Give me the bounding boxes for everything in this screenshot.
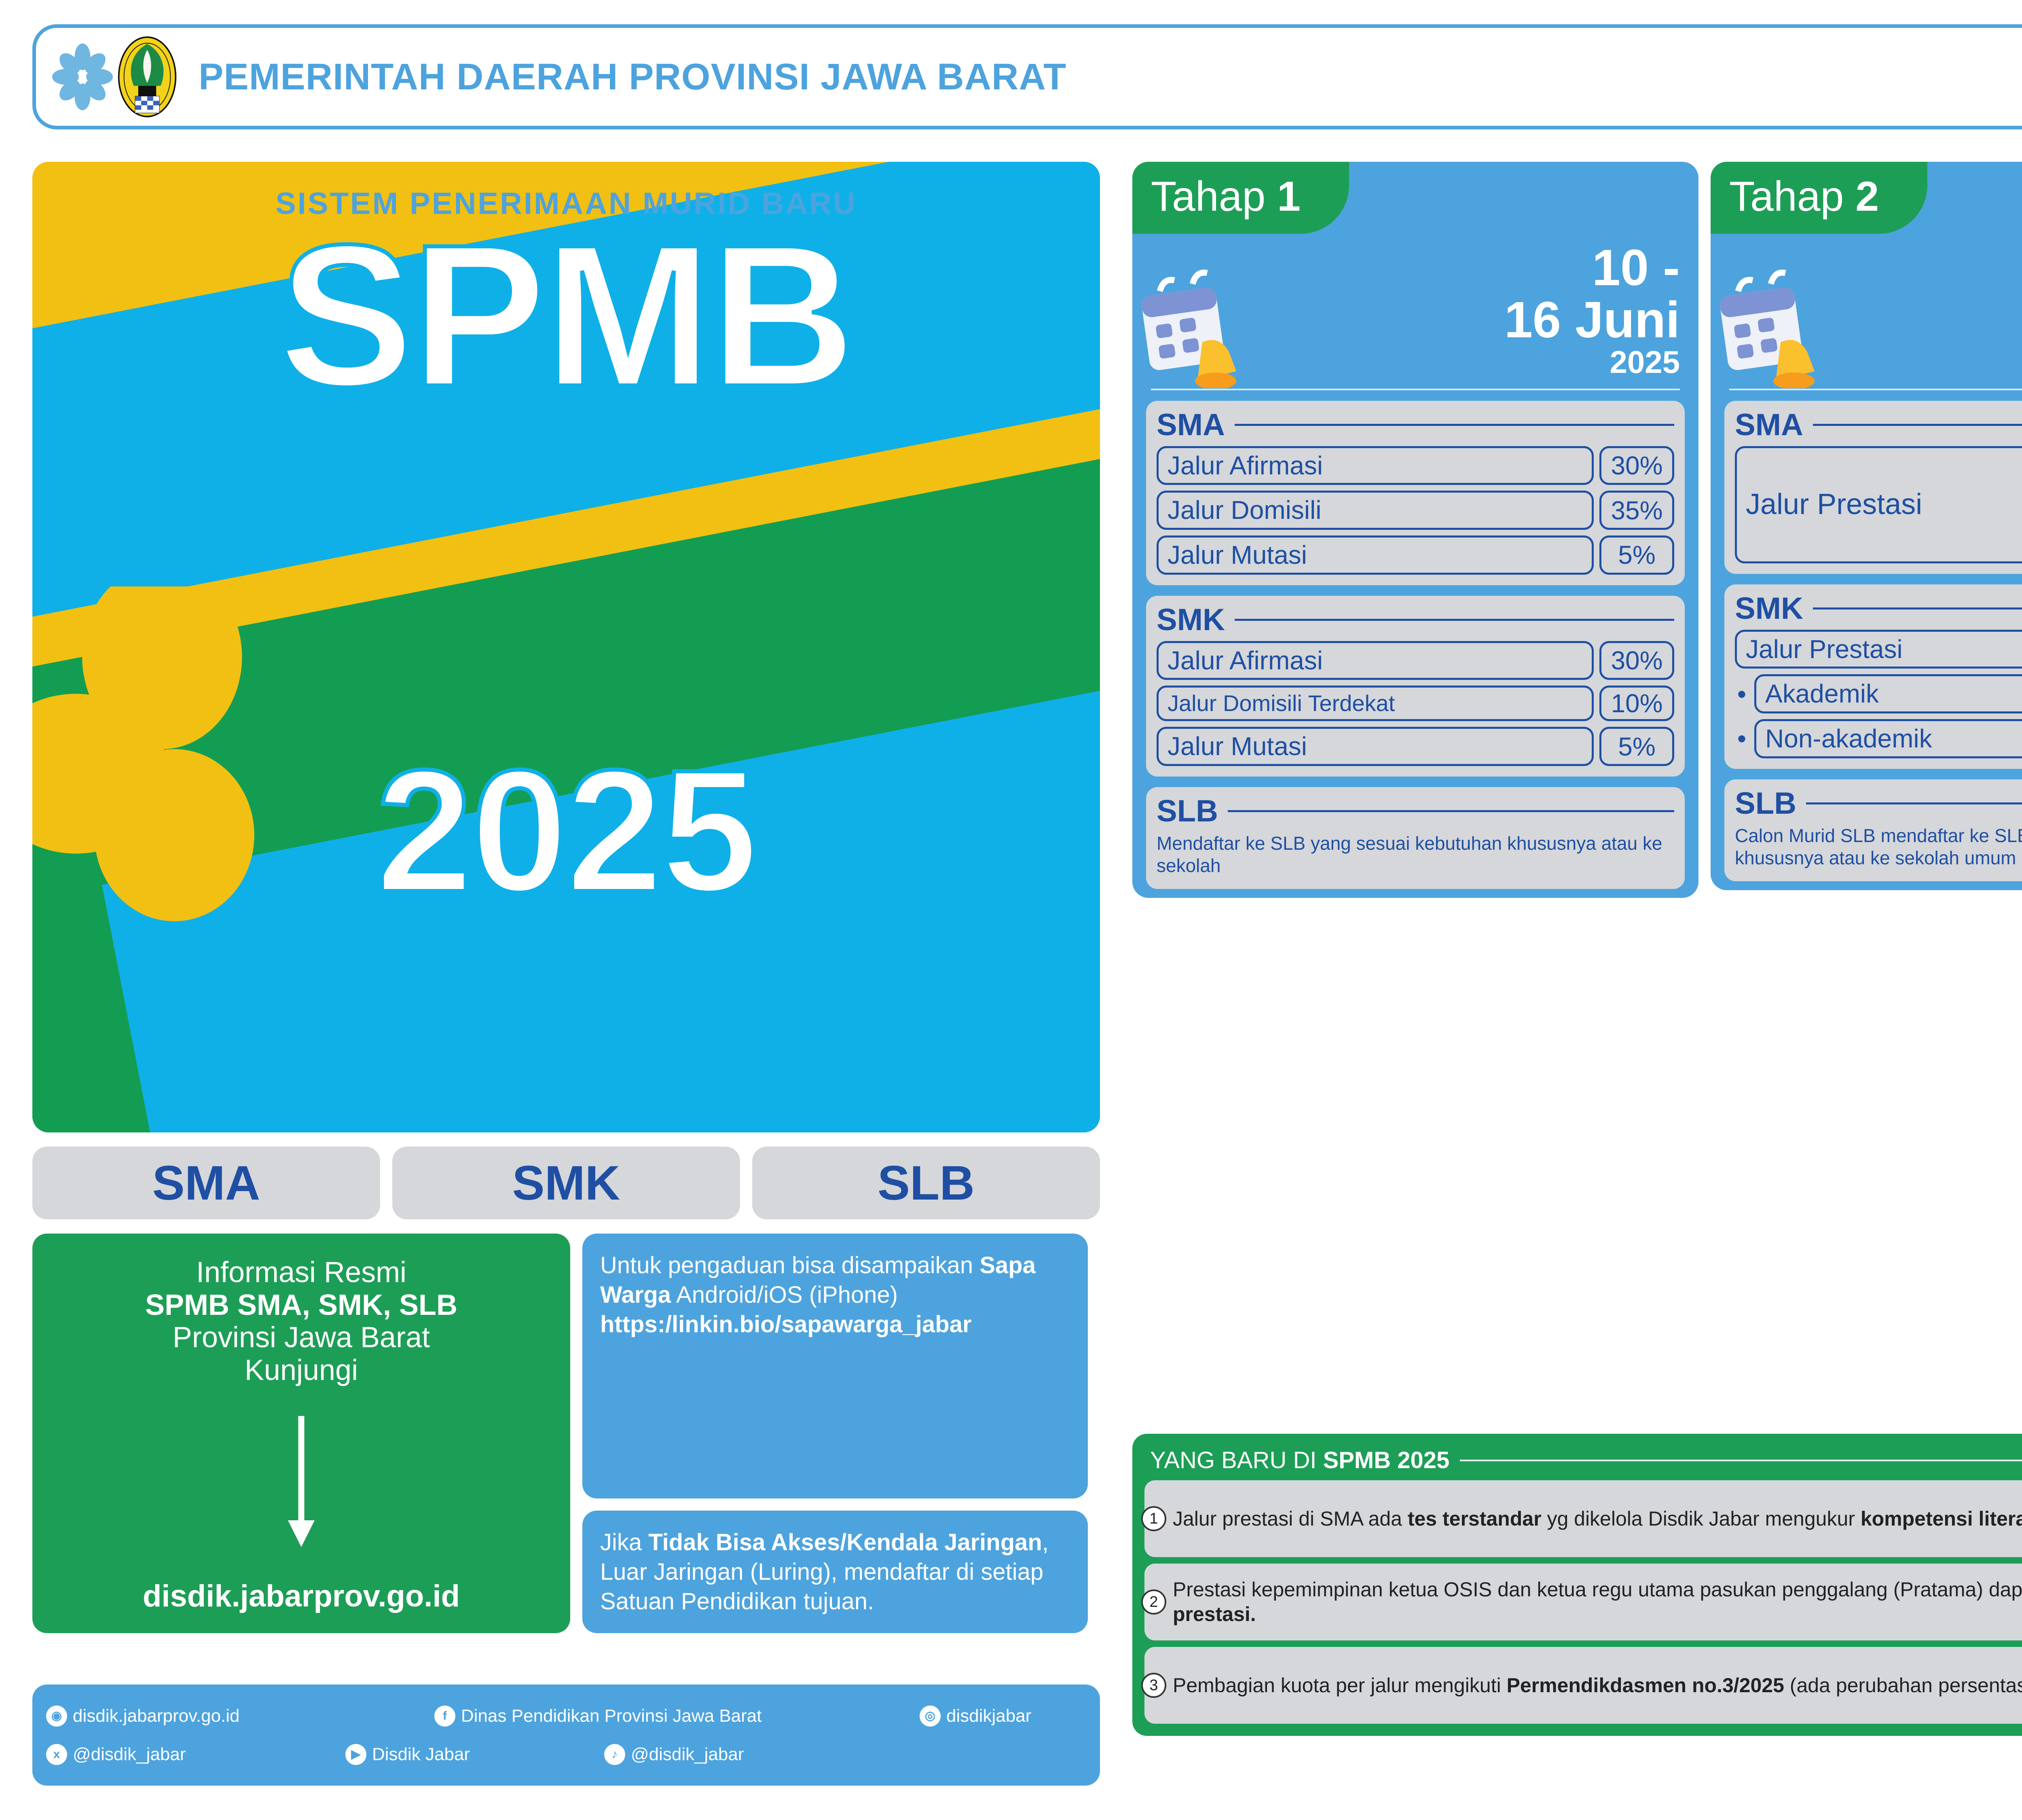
official-info-line4: Kunjungi — [49, 1354, 554, 1387]
jalur-percent: 30% — [1599, 446, 1674, 485]
level-chip-smk[interactable]: SMK — [392, 1147, 740, 1219]
header-title: PEMERINTAH DAERAH PROVINSI JAWA BARAT — [199, 56, 1066, 98]
tahap-1-card: Tahap 1 — [1132, 162, 1698, 898]
group-rule — [1235, 424, 1674, 426]
social-item-instagram[interactable]: ◎ disdikjabar — [920, 1706, 1031, 1727]
item-text-1: Pembagian kuota per jalur mengikuti — [1173, 1674, 1506, 1697]
group-title-smk: SMK — [1735, 593, 1803, 624]
group-header: SMA — [1157, 410, 1674, 440]
tahap-2-date-line2: 1 Juli — [1729, 294, 2022, 346]
tahap-1-divider — [1151, 389, 1680, 390]
item-text: Pembagian kuota per jalur mengikuti Perm… — [1173, 1673, 2022, 1698]
jalur-row[interactable]: • Akademik 50% — [1735, 674, 2022, 713]
item-bold-1: Permendikdasmen no.3/2025 — [1506, 1674, 1784, 1697]
tahap-2-date: 24 Juni- 1 Juli 2025 — [1711, 234, 2022, 379]
group-header: SMK — [1157, 605, 1674, 635]
down-arrow-icon — [49, 1387, 554, 1579]
jawa-barat-crest-icon — [117, 36, 178, 117]
tahap-1-date-line1: 10 - — [1151, 242, 1680, 294]
instagram-icon: ◎ — [920, 1706, 941, 1727]
item-text-2: yg dikelola Disdik Jabar mengukur — [1542, 1507, 1861, 1530]
social-item-facebook[interactable]: f Dinas Pendidikan Provinsi Jawa Barat — [434, 1706, 920, 1727]
info-blue-stack: Untuk pengaduan bisa disampaikan Sapa Wa… — [582, 1234, 1088, 1633]
level-chip-sma[interactable]: SMA — [32, 1147, 380, 1219]
tahap-1-tab-prefix: Tahap — [1151, 173, 1277, 220]
tahap-2-tab: Tahap 2 — [1711, 162, 1927, 234]
social-row-1: ◉ disdik.jabarprov.go.id f Dinas Pendidi… — [46, 1697, 1086, 1735]
slb-note: Mendaftar ke SLB yang sesuai kebutuhan k… — [1157, 832, 1674, 877]
hero-year: 2025 — [32, 744, 1100, 918]
jalur-row[interactable]: Jalur Afirmasi 30% — [1157, 446, 1674, 485]
tahap-1-date: 10 - 16 Juni 2025 — [1132, 234, 1698, 379]
yang-baru-panel: YANG BARU DI SPMB 2025 1 Jalur prestasi … — [1132, 1434, 2022, 1736]
level-chip-slb[interactable]: SLB — [752, 1147, 1100, 1219]
jalur-row[interactable]: Jalur Domisili Terdekat 10% — [1157, 686, 1674, 721]
complaint-text-2: Android/iOS (iPhone) — [671, 1282, 898, 1308]
offline-bold-1: Tidak Bisa Akses/Kendala Jaringan — [648, 1529, 1042, 1555]
social-footer: ◉ disdik.jabarprov.go.id f Dinas Pendidi… — [32, 1685, 1100, 1786]
social-item-youtube[interactable]: ▶ Disdik Jabar — [345, 1744, 604, 1765]
group-rule — [1813, 424, 2022, 426]
official-website-url[interactable]: disdik.jabarprov.go.id — [49, 1579, 554, 1614]
official-info-line1: Informasi Resmi — [49, 1256, 554, 1289]
jalur-percent: 30% — [1599, 641, 1674, 680]
jalur-row[interactable]: Jalur Mutasi 5% — [1157, 535, 1674, 575]
social-item-website[interactable]: ◉ disdik.jabarprov.go.id — [46, 1706, 434, 1727]
tahap-2-card: Tahap 2 — [1711, 162, 2022, 890]
tahap-2-tab-prefix: Tahap — [1729, 173, 1855, 220]
yang-baru-item: 1 Jalur prestasi di SMA ada tes terstand… — [1144, 1480, 2022, 1557]
tiktok-icon: ♪ — [604, 1744, 625, 1765]
social-label-x: @disdik_jabar — [73, 1744, 186, 1765]
jalur-label: Jalur Prestasi — [1735, 630, 2022, 669]
social-label-tiktok: @disdik_jabar — [631, 1744, 744, 1765]
group-rule — [1228, 810, 1674, 812]
item-text: Prestasi kepemimpinan ketua OSIS dan ket… — [1173, 1577, 2022, 1627]
offline-info-card: Jika Tidak Bisa Akses/Kendala Jaringan, … — [582, 1511, 1088, 1633]
jalur-row[interactable]: Jalur Prestasi 30% — [1735, 446, 2022, 563]
social-item-tiktok[interactable]: ♪ @disdik_jabar — [604, 1744, 744, 1765]
tahap-2-divider — [1729, 389, 2022, 390]
group-title-smk: SMK — [1157, 605, 1225, 635]
tahap-1-tab-number: 1 — [1277, 173, 1301, 220]
group-header: SLB — [1735, 788, 2022, 819]
hero-acronym: SPMB — [32, 214, 1100, 417]
jalur-label: Non-akademik — [1754, 719, 2022, 758]
group-title-slb: SLB — [1735, 788, 1796, 819]
group-title-sma: SMA — [1157, 410, 1225, 440]
group-title-sma: SMA — [1735, 410, 1803, 440]
yang-baru-item: 3 Pembagian kuota per jalur mengikuti Pe… — [1144, 1647, 2022, 1724]
jalur-row[interactable]: Jalur Prestasi 55% — [1735, 630, 2022, 669]
yang-baru-title-plain: YANG BARU DI — [1150, 1447, 1323, 1473]
tahap-1-date-line2: 16 Juni — [1151, 294, 1680, 346]
item-text-2: (ada perubahan persentase dibanding tahu… — [1784, 1674, 2022, 1697]
jalur-label: Jalur Domisili Terdekat — [1157, 686, 1594, 721]
jalur-label: Akademik — [1754, 674, 2022, 713]
yang-baru-item: 2 Prestasi kepemimpinan ketua OSIS dan k… — [1144, 1564, 2022, 1640]
facebook-icon: f — [434, 1706, 455, 1727]
tahap-2-tab-number: 2 — [1855, 173, 1879, 220]
item-text: Jalur prestasi di SMA ada tes terstandar… — [1173, 1507, 2022, 1531]
group-header: SLB — [1157, 796, 1674, 827]
jalur-label: Jalur Afirmasi — [1157, 641, 1594, 680]
info-row: Informasi Resmi SPMB SMA, SMK, SLB Provi… — [32, 1234, 1100, 1633]
flower-icon — [52, 42, 113, 111]
jalur-row[interactable]: Jalur Mutasi 5% — [1157, 727, 1674, 766]
slb-note: Calon Murid SLB mendaftar ke SLB yang se… — [1735, 825, 2022, 869]
page-header: PEMERINTAH DAERAH PROVINSI JAWA BARAT sp… — [32, 24, 2022, 129]
official-info-line3: Provinsi Jawa Barat — [49, 1321, 554, 1354]
jalur-row[interactable]: Jalur Domisili 35% — [1157, 491, 1674, 530]
item-text-1: Jalur prestasi di SMA ada — [1173, 1507, 1408, 1530]
social-label-instagram: disdikjabar — [946, 1706, 1031, 1726]
jalur-percent: 35% — [1599, 491, 1674, 530]
group-header: SMA — [1735, 410, 2022, 440]
yang-baru-rule — [1460, 1460, 2022, 1461]
group-header: SMK — [1735, 593, 2022, 624]
jalur-label: Jalur Mutasi — [1157, 535, 1594, 575]
tahap-1-group-slb: SLB Mendaftar ke SLB yang sesuai kebutuh… — [1146, 787, 1685, 889]
group-rule — [1813, 607, 2022, 609]
globe-icon: ◉ — [46, 1706, 67, 1727]
jalur-percent: 5% — [1599, 535, 1674, 575]
item-text-1: Prestasi kepemimpinan ketua OSIS dan ket… — [1173, 1578, 2022, 1601]
tahap-1-group-smk: SMK Jalur Afirmasi 30% Jalur Domisili Te… — [1146, 596, 1685, 777]
item-number-badge: 3 — [1141, 1673, 1166, 1698]
social-label-youtube: Disdik Jabar — [372, 1744, 470, 1765]
yang-baru-header: YANG BARU DI SPMB 2025 — [1150, 1447, 2022, 1474]
bullet-icon: • — [1735, 674, 1749, 713]
level-chip-row: SMA SMK SLB — [32, 1147, 1100, 1219]
jalur-label: Jalur Afirmasi — [1157, 446, 1594, 485]
tahap-2-group-sma: SMA Jalur Prestasi 30% — [1724, 401, 2022, 574]
jalur-percent: 5% — [1599, 727, 1674, 766]
jalur-label: Jalur Domisili — [1157, 491, 1594, 530]
group-rule — [1235, 619, 1674, 621]
offline-text-1: Jika — [600, 1529, 648, 1555]
tahap-2-group-slb: SLB Calon Murid SLB mendaftar ke SLB yan… — [1724, 779, 2022, 881]
tahap-2-group-smk: SMK Jalur Prestasi 55% • Akademik 50% • … — [1724, 584, 2022, 769]
official-info-card: Informasi Resmi SPMB SMA, SMK, SLB Provi… — [32, 1234, 570, 1633]
tahap-2-date-year: 2025 — [1729, 346, 2022, 379]
tahap-1-date-year: 2025 — [1151, 346, 1680, 379]
item-bold-1: tes terstandar — [1408, 1507, 1542, 1530]
official-info-line2: SPMB SMA, SMK, SLB — [49, 1289, 554, 1322]
tahap-1-group-sma: SMA Jalur Afirmasi 30% Jalur Domisili 35… — [1146, 401, 1685, 585]
complaint-text-1: Untuk pengaduan bisa disampaikan — [600, 1252, 979, 1278]
social-row-2: x @disdik_jabar ▶ Disdik Jabar ♪ @disdik… — [46, 1735, 1086, 1773]
tahap-1-tab: Tahap 1 — [1132, 162, 1349, 234]
jalur-label: Jalur Prestasi — [1735, 446, 2022, 563]
item-number-badge: 1 — [1141, 1506, 1166, 1531]
social-label-facebook: Dinas Pendidikan Provinsi Jawa Barat — [461, 1706, 762, 1726]
complaint-link[interactable]: https:/linkin.bio/sapawarga_jabar — [600, 1311, 972, 1337]
youtube-icon: ▶ — [345, 1744, 366, 1765]
jalur-label: Jalur Mutasi — [1157, 727, 1594, 766]
group-title-slb: SLB — [1157, 796, 1218, 827]
item-number-badge: 2 — [1141, 1589, 1166, 1615]
item-bold-2: kompetensi literasi dan numerasi. — [1861, 1507, 2022, 1530]
group-rule — [1806, 802, 2022, 804]
social-item-x[interactable]: x @disdik_jabar — [46, 1744, 345, 1765]
yang-baru-title: YANG BARU DI SPMB 2025 — [1150, 1447, 1449, 1474]
tahap-1-column: Tahap 1 — [1132, 162, 1698, 898]
infographic-page: PEMERINTAH DAERAH PROVINSI JAWA BARAT sp… — [0, 0, 2022, 1820]
x-twitter-icon: x — [46, 1744, 67, 1765]
yang-baru-title-bold: SPMB 2025 — [1323, 1447, 1450, 1473]
tahap-2-date-line1: 24 Juni- — [1729, 242, 2022, 294]
hero-panel: SISTEM PENERIMAAN MURID BARU SPMB 2025 — [32, 162, 1100, 1132]
tahap-2-column: Tahap 2 — [1711, 162, 2022, 890]
jalur-row[interactable]: • Non-akademik 5% — [1735, 719, 2022, 758]
jalur-percent: 10% — [1599, 686, 1674, 721]
complaint-info-card: Untuk pengaduan bisa disampaikan Sapa Wa… — [582, 1234, 1088, 1498]
social-label-website: disdik.jabarprov.go.id — [73, 1706, 240, 1726]
bullet-icon: • — [1735, 719, 1749, 758]
left-column: SISTEM PENERIMAAN MURID BARU SPMB 2025 S… — [32, 162, 1100, 1633]
jalur-row[interactable]: Jalur Afirmasi 30% — [1157, 641, 1674, 680]
